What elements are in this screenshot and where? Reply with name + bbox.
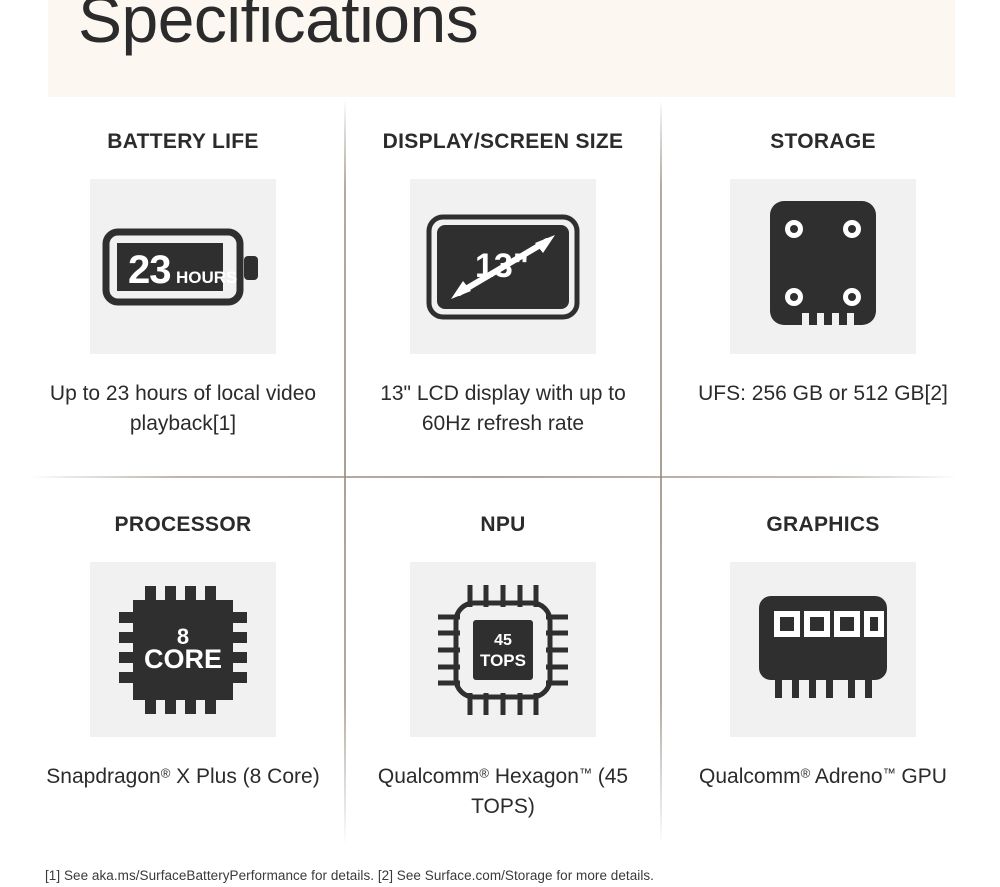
spec-cell-battery-life: BATTERY LIFE 23 HOURS Up to 23 hours of … <box>25 97 341 439</box>
spec-cell-processor: PROCESSOR 8 CORE <box>25 480 341 792</box>
icon-tile-graphics <box>730 562 916 737</box>
battery-icon: 23 HOURS <box>98 212 268 322</box>
spec-title-battery-life: BATTERY LIFE <box>107 130 258 154</box>
icon-tile-battery: 23 HOURS <box>90 179 276 354</box>
spec-title-processor: PROCESSOR <box>115 513 252 537</box>
icon-tile-npu: 45 TOPS <box>410 562 596 737</box>
spec-cell-npu: NPU <box>345 480 661 822</box>
registered-mark: ® <box>161 766 171 781</box>
specs-grid: BATTERY LIFE 23 HOURS Up to 23 hours of … <box>0 97 1000 842</box>
gpu-chip-icon <box>753 590 893 710</box>
spec-desc-graphics: Qualcomm® Adreno™ GPU <box>673 762 973 792</box>
spec-cell-graphics: GRAPHICS <box>665 480 981 792</box>
svg-text:CORE: CORE <box>144 644 222 674</box>
svg-text:HOURS: HOURS <box>176 268 237 287</box>
footnote-text: [1] See aka.ms/SurfaceBatteryPerformance… <box>45 868 654 883</box>
spec-cell-storage: STORAGE UFS: 256 GB or 512 GB[2] <box>665 97 981 409</box>
icon-tile-display: 13" <box>410 179 596 354</box>
svg-text:TOPS: TOPS <box>480 651 526 670</box>
registered-mark: ® <box>801 766 811 781</box>
svg-text:13": 13" <box>475 247 529 285</box>
spec-title-npu: NPU <box>480 513 525 537</box>
spec-desc-battery-life: Up to 23 hours of local video playback[1… <box>33 379 333 439</box>
page-title: Specifications <box>78 0 478 52</box>
header-banner: Specifications <box>48 0 955 97</box>
spec-desc-display: 13" LCD display with up to 60Hz refresh … <box>353 379 653 439</box>
registered-mark: ® <box>479 766 489 781</box>
trademark-mark: ™ <box>883 766 896 781</box>
spec-title-graphics: GRAPHICS <box>766 513 879 537</box>
svg-text:23: 23 <box>128 248 171 292</box>
spec-cell-display: DISPLAY/SCREEN SIZE 13" 13" LCD display … <box>345 97 661 439</box>
processor-chip-icon: 8 CORE <box>113 580 253 720</box>
npu-chip-icon: 45 TOPS <box>428 575 578 725</box>
icon-tile-storage <box>730 179 916 354</box>
spec-desc-npu: Qualcomm® Hexagon™ (45 TOPS) <box>353 762 653 822</box>
spec-desc-processor: Snapdragon® X Plus (8 Core) <box>33 762 333 792</box>
display-screen-icon: 13" <box>423 207 583 327</box>
spec-title-storage: STORAGE <box>770 130 876 154</box>
specifications-page: Specifications BATTERY LIFE 23 HOURS Up … <box>0 0 1000 887</box>
spec-desc-storage: UFS: 256 GB or 512 GB[2] <box>673 379 973 409</box>
trademark-mark: ™ <box>579 766 592 781</box>
storage-chip-icon <box>764 197 882 337</box>
svg-text:45: 45 <box>494 632 512 649</box>
spec-title-display: DISPLAY/SCREEN SIZE <box>383 130 624 154</box>
icon-tile-processor: 8 CORE <box>90 562 276 737</box>
